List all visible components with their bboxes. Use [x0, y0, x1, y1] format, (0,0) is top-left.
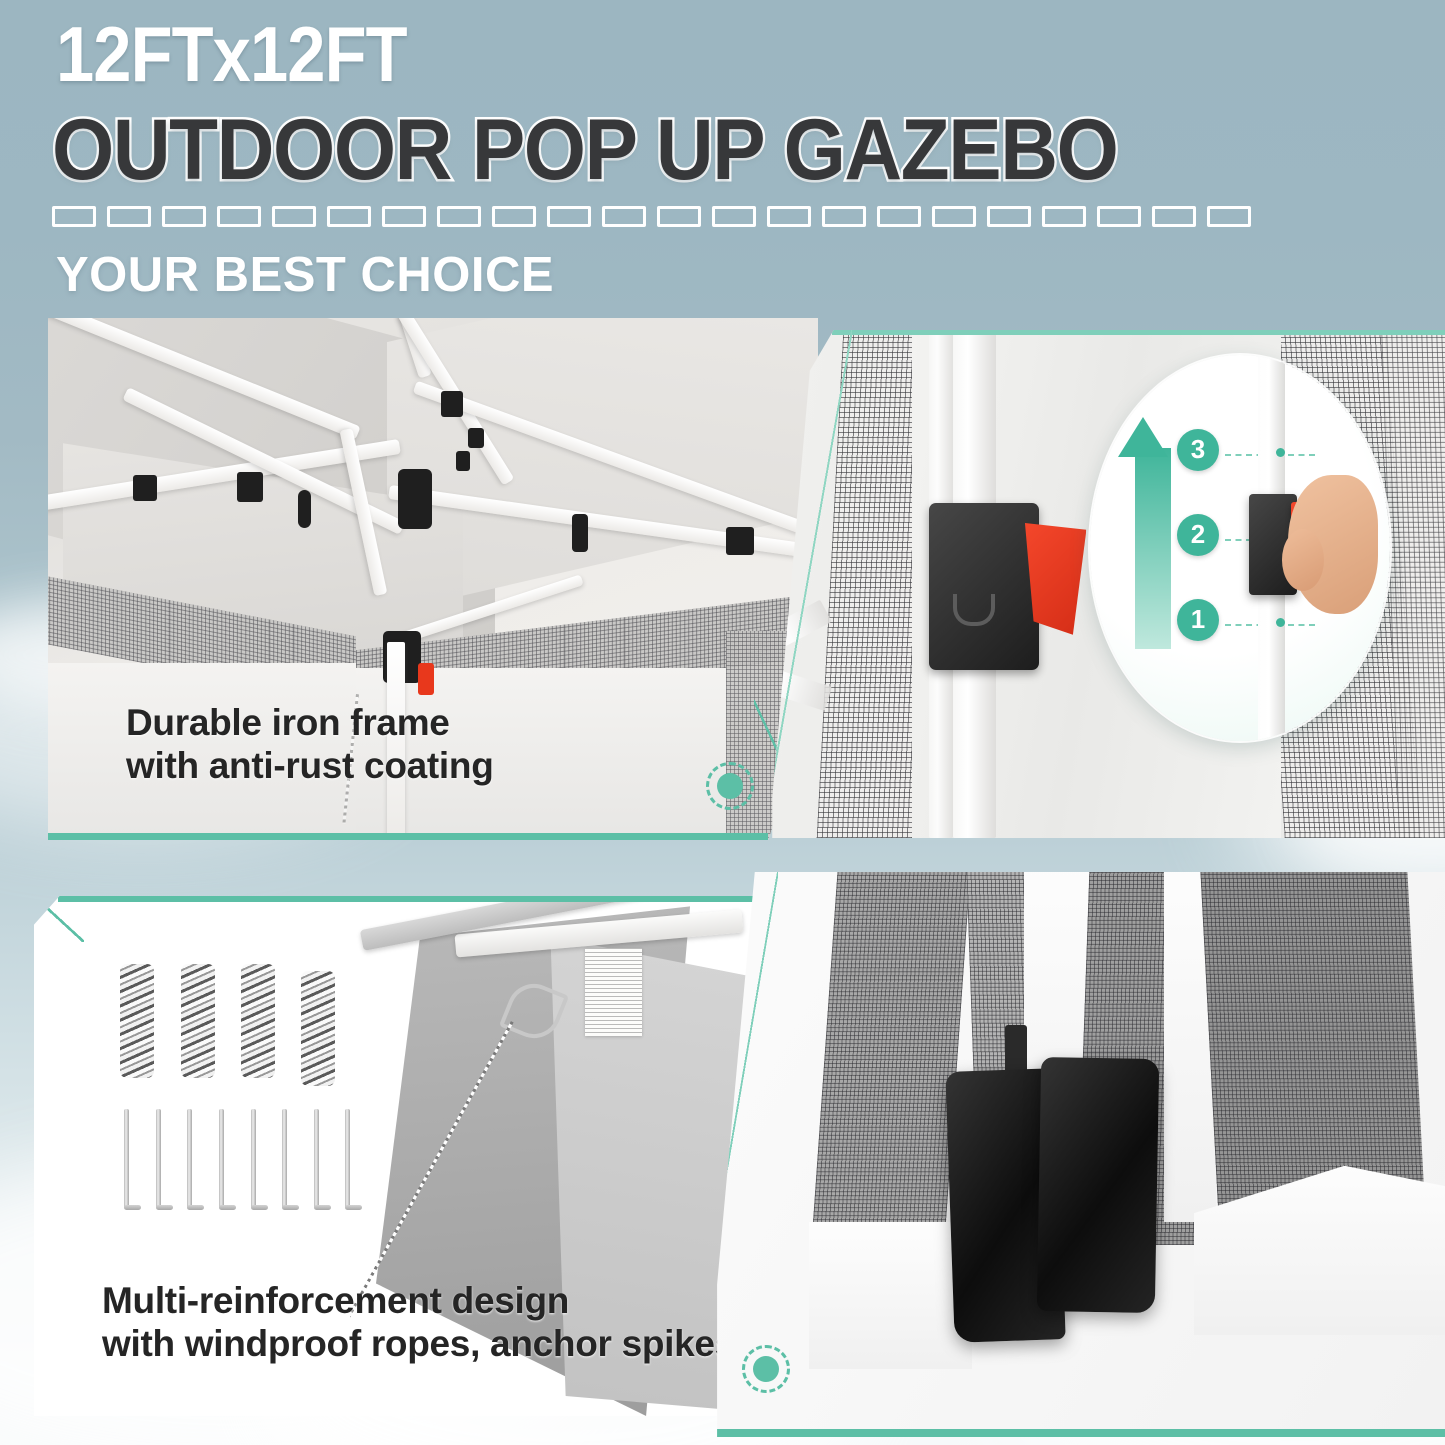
divider-segment: [52, 206, 96, 227]
panel-2-accent-top: [832, 330, 1445, 335]
divider-segment: [657, 206, 701, 227]
anchor-spike-hook-1: [124, 1205, 141, 1210]
rope-coil-2: [181, 964, 215, 1078]
anchor-spike-hook-6: [282, 1205, 299, 1210]
divider-segment: [327, 206, 371, 227]
divider-segment: [602, 206, 646, 227]
anchor-spike-hook-3: [187, 1205, 204, 1210]
divider-segment: [272, 206, 316, 227]
frame-clip-5: [456, 451, 470, 471]
infographic-canvas: 12FTx12FT OUTDOOR POP UP GAZEBO YOUR BES…: [0, 0, 1445, 1445]
rope-coil-3: [241, 964, 275, 1078]
rope-coil-1: [120, 964, 154, 1078]
photo-height-latch: 3 2 1: [762, 330, 1445, 838]
divider-segment: [1152, 206, 1196, 227]
panel-sandbags[interactable]: Equipped with 4 sandbags: [706, 872, 1445, 1437]
frame-clip-3: [441, 391, 463, 417]
size-label: 12FTx12FT: [56, 14, 407, 94]
frame-clip-2: [298, 490, 311, 528]
divider-segment: [932, 206, 976, 227]
hand-thumb: [1282, 529, 1324, 591]
anchor-spike-7: [314, 1109, 319, 1208]
position-marker-1: 1: [1177, 599, 1219, 641]
panel-4-accent-bottom: [716, 1429, 1445, 1437]
latch-hook-detail: [953, 594, 995, 626]
divider-segment: [492, 206, 536, 227]
panel-multi-reinforcement[interactable]: Multi-reinforcement design with windproo…: [34, 896, 786, 1416]
divider-segment: [1042, 206, 1086, 227]
dashed-divider: [52, 206, 1217, 228]
divider-segment: [987, 206, 1031, 227]
frame-clip-7: [726, 527, 754, 555]
divider-segment: [822, 206, 866, 227]
rope-coil-4: [301, 971, 335, 1085]
position-marker-2: 2: [1177, 514, 1219, 556]
divider-segment: [382, 206, 426, 227]
height-position-inset: 3 2 1: [1090, 355, 1391, 741]
frame-hub-center: [398, 469, 432, 529]
pole-notch-1: [1276, 618, 1285, 627]
divider-segment: [1097, 206, 1141, 227]
divider-segment: [547, 206, 591, 227]
frame-clip-8: [133, 475, 157, 501]
care-label-tag: [585, 948, 642, 1036]
anchor-spike-1: [124, 1109, 129, 1208]
panel-1-accent-bar: [48, 833, 768, 840]
panel-4-badge-dot: [742, 1345, 790, 1393]
divider-segment: [877, 206, 921, 227]
divider-segment: [107, 206, 151, 227]
frame-clip-4: [468, 428, 484, 448]
divider-segment: [1207, 206, 1251, 227]
anchor-spike-3: [187, 1109, 192, 1208]
caption-line-1: Multi-reinforcement design: [102, 1279, 735, 1323]
page-subtitle: YOUR BEST CHOICE: [56, 248, 554, 302]
sandbag-back: [1036, 1057, 1159, 1313]
caption-line-2: with windproof ropes, anchor spikes: [102, 1322, 735, 1366]
anchor-spike-4: [219, 1109, 224, 1208]
photo-sandbags: [706, 872, 1445, 1437]
frame-clip-6: [572, 514, 588, 552]
anchor-spike-hook-5: [251, 1205, 268, 1210]
divider-segment: [162, 206, 206, 227]
anchor-spike-6: [282, 1109, 287, 1208]
panel-durable-iron-frame[interactable]: Durable iron frame with anti-rust coatin…: [48, 318, 818, 840]
white-skirt-1: [809, 1222, 972, 1369]
net-curtain-4: [1199, 872, 1424, 1211]
panel-3-accent-top: [58, 896, 786, 902]
panel-1-caption: Durable iron frame with anti-rust coatin…: [126, 701, 494, 788]
panel-1-badge-dot: [706, 762, 754, 810]
position-marker-3: 3: [1177, 429, 1219, 471]
anchor-spike-hook-2: [156, 1205, 173, 1210]
page-title: OUTDOOR POP UP GAZEBO: [52, 104, 1117, 196]
red-release-tab: [418, 663, 434, 695]
header: 12FTx12FT OUTDOOR POP UP GAZEBO YOUR BES…: [0, 0, 1445, 312]
caption-line-1: Durable iron frame: [126, 701, 494, 745]
frame-clip-1: [237, 472, 263, 502]
height-latch-housing: [929, 503, 1038, 671]
up-arrow-head: [1118, 417, 1168, 457]
anchor-spike-hook-7: [314, 1205, 331, 1210]
caption-line-2: with anti-rust coating: [126, 744, 494, 788]
divider-segment: [437, 206, 481, 227]
panel-adjustable-height[interactable]: 3 2 1 3-position adjustable height: [762, 330, 1445, 838]
divider-segment: [217, 206, 261, 227]
anchor-spike-hook-4: [219, 1205, 236, 1210]
divider-segment: [767, 206, 811, 227]
anchor-spike-2: [156, 1109, 161, 1208]
divider-segment: [712, 206, 756, 227]
anchor-spike-5: [251, 1109, 256, 1208]
panel-3-caption: Multi-reinforcement design with windproo…: [102, 1279, 735, 1366]
up-arrow-icon: [1135, 448, 1171, 649]
